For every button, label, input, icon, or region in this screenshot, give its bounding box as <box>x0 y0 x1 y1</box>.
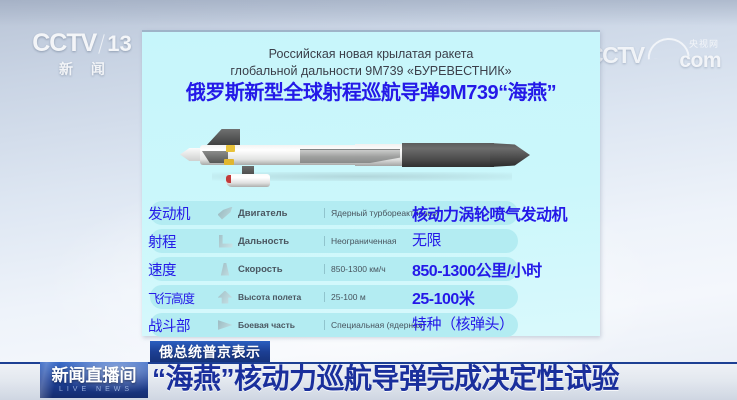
headline-text: “海燕”核动力巡航导弹完成决定性试验 <box>152 357 619 397</box>
spec-row-warhead: 战斗部 Боевая часть Специальная (ядерная) 特… <box>144 312 598 338</box>
channel-logo-cctv13: CCTV 13 新 闻 <box>26 26 138 82</box>
spec-label-chinese: 飞行高度 <box>144 288 212 307</box>
missile-body-aft <box>402 143 494 167</box>
missile-marking-upper <box>226 145 235 152</box>
spec-value-chinese: 特种（核弹头） <box>412 313 514 334</box>
info-panel: Российская новая крылатая ракета глобаль… <box>142 30 600 336</box>
program-name-english: LIVE NEWS <box>55 385 133 394</box>
spec-label-russian: Боевая часть <box>238 320 324 330</box>
warhead-icon <box>212 319 238 332</box>
altitude-icon <box>212 291 238 304</box>
website-logo-com-text: com <box>679 49 721 73</box>
spec-table: 发动机 Двигатель Ядерный турбореактивный 核动… <box>142 200 600 340</box>
spec-value-chinese: 无限 <box>412 229 441 250</box>
channel-logo-row: CCTV 13 <box>32 29 132 58</box>
missile-illustration <box>172 128 572 192</box>
panel-title-russian: Российская новая крылатая ракета глобаль… <box>142 32 600 80</box>
channel-logo-number: 13 <box>107 31 131 57</box>
broadcast-screen: CCTV 13 新 闻 CCTV 央视网 com Российская нова… <box>0 0 737 400</box>
spec-value-chinese: 850-1300公里/小时 <box>412 257 542 281</box>
spec-row-engine: 发动机 Двигатель Ядерный турбореактивный 核动… <box>144 200 598 226</box>
spec-row-speed: 速度 Скорость 850-1300 км/ч 850-1300公里/小时 <box>144 256 598 282</box>
channel-logo-divider <box>99 34 105 54</box>
engine-icon <box>212 207 238 220</box>
spec-label-chinese: 战斗部 <box>144 315 212 336</box>
spec-label-chinese: 速度 <box>144 259 212 280</box>
missile-nose-cone <box>490 143 530 167</box>
spec-label-russian: Скорость <box>238 264 324 275</box>
channel-logo-subtitle: 新 闻 <box>52 59 112 79</box>
spec-value-chinese: 25-100米 <box>412 285 474 309</box>
panel-title-russian-line1: Российская новая крылатая ракета <box>142 46 600 63</box>
panel-title-chinese: 俄罗斯新型全球射程巡航导弹9M739“海燕” <box>142 81 600 105</box>
missile-tail-fin-upper <box>206 129 240 146</box>
spec-label-russian: Высота полета <box>238 292 324 302</box>
spec-label-chinese: 发动机 <box>144 203 212 224</box>
program-name-chinese: 新闻直播间 <box>52 367 137 385</box>
spec-value-chinese: 核动力涡轮喷气发动机 <box>412 201 567 225</box>
missile-booster-pod-tip <box>226 175 231 183</box>
channel-logo-cctv-text: CCTV <box>32 29 96 58</box>
missile-wing-edge <box>300 149 400 150</box>
missile-graphic <box>180 142 525 168</box>
range-icon <box>212 235 238 248</box>
spec-row-range: 射程 Дальность Неограниченная 无限 <box>144 228 598 254</box>
panel-title-russian-line2: глобальной дальности 9М739 «БУРЕВЕСТНИК» <box>142 63 600 80</box>
program-badge: 新闻直播间 LIVE NEWS <box>40 362 148 398</box>
spec-row-altitude: 飞行高度 Высота полета 25-100 м 25-100米 <box>144 284 598 310</box>
missile-marking-lower <box>224 159 234 165</box>
website-logo-cctv-com: CCTV 央视网 com <box>587 36 721 76</box>
spec-label-russian: Двигатель <box>238 208 324 219</box>
missile-booster-pod <box>226 174 270 187</box>
spec-label-russian: Дальность <box>238 236 324 247</box>
spec-label-chinese: 射程 <box>144 231 212 252</box>
speed-icon <box>212 263 238 276</box>
background-top-sheen <box>0 0 737 26</box>
